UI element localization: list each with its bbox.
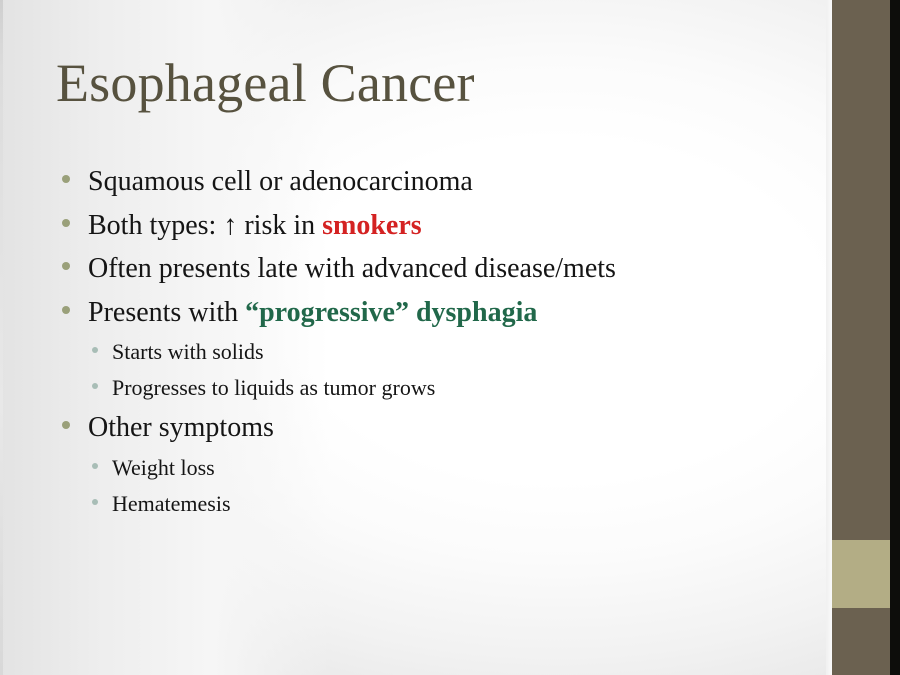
sub-bullet-item: Progresses to liquids as tumor grows bbox=[58, 370, 798, 406]
emphasized-text: smokers bbox=[322, 210, 422, 241]
bullet-text: Hematemesis bbox=[112, 486, 231, 522]
bullet-text: Weight loss bbox=[112, 450, 215, 486]
bullet-dot-icon bbox=[62, 262, 70, 270]
sub-bullet-item: Weight loss bbox=[58, 450, 798, 486]
bullet-text: Presents with “progressive” dysphagia bbox=[88, 291, 537, 335]
bullet-dot-icon bbox=[62, 421, 70, 429]
slide-left-edge bbox=[0, 0, 3, 675]
plain-text: Both types: ↑ risk in bbox=[88, 210, 322, 241]
bullet-item: Squamous cell or adenocarcinoma bbox=[58, 160, 798, 204]
bullet-text: Often presents late with advanced diseas… bbox=[88, 247, 616, 291]
plain-text: Presents with bbox=[88, 297, 245, 328]
bullet-dot-icon bbox=[62, 219, 70, 227]
sub-bullet-item: Starts with solids bbox=[58, 334, 798, 370]
bullet-text: Squamous cell or adenocarcinoma bbox=[88, 160, 473, 204]
bullet-text: Both types: ↑ risk in smokers bbox=[88, 204, 422, 248]
bullet-dot-icon bbox=[92, 383, 98, 389]
slide-canvas: Esophageal Cancer Squamous cell or adeno… bbox=[0, 0, 900, 675]
plain-text: Often presents late with advanced diseas… bbox=[88, 253, 616, 284]
sub-bullet-item: Hematemesis bbox=[58, 486, 798, 522]
plain-text: Other symptoms bbox=[88, 412, 274, 443]
plain-text: Hematemesis bbox=[112, 491, 231, 516]
bullet-item: Presents with “progressive” dysphagia bbox=[58, 291, 798, 335]
bullet-item: Both types: ↑ risk in smokers bbox=[58, 204, 798, 248]
plain-text: Progresses to liquids as tumor grows bbox=[112, 375, 435, 400]
bullet-text: Progresses to liquids as tumor grows bbox=[112, 370, 435, 406]
bullet-list: Squamous cell or adenocarcinomaBoth type… bbox=[58, 160, 798, 522]
sidebar-accent-block bbox=[832, 540, 890, 608]
bullet-item: Other symptoms bbox=[58, 406, 798, 450]
plain-text: Weight loss bbox=[112, 455, 215, 480]
bullet-dot-icon bbox=[92, 347, 98, 353]
emphasized-text: “progressive” dysphagia bbox=[245, 297, 537, 328]
bullet-dot-icon bbox=[92, 499, 98, 505]
bullet-text: Other symptoms bbox=[88, 406, 274, 450]
bullet-text: Starts with solids bbox=[112, 334, 264, 370]
bullet-dot-icon bbox=[62, 175, 70, 183]
plain-text: Starts with solids bbox=[112, 339, 264, 364]
slide-title: Esophageal Cancer bbox=[56, 52, 475, 114]
bullet-dot-icon bbox=[62, 306, 70, 314]
bullet-item: Often presents late with advanced diseas… bbox=[58, 247, 798, 291]
plain-text: Squamous cell or adenocarcinoma bbox=[88, 166, 473, 197]
bullet-dot-icon bbox=[92, 463, 98, 469]
slide-right-edge bbox=[890, 0, 900, 675]
